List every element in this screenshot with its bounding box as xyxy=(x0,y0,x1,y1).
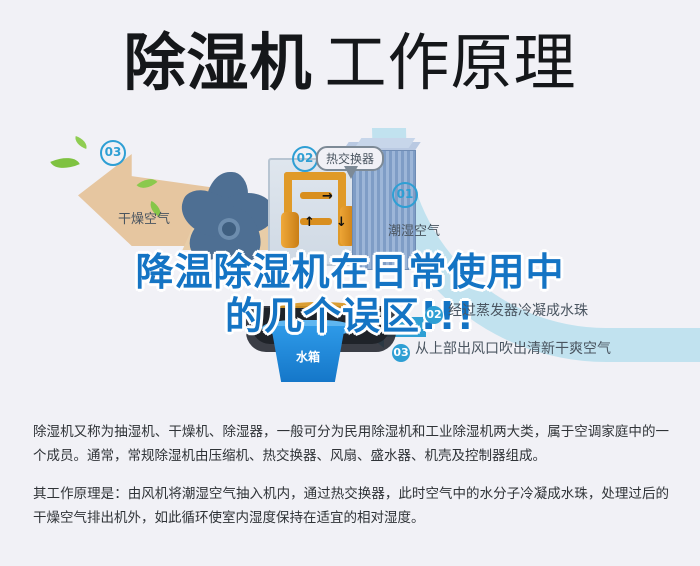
leaf-icon xyxy=(73,136,89,149)
caption-text-02: 经过蒸发器冷凝成水珠 xyxy=(448,303,588,319)
caption-badge-02: 02 xyxy=(425,306,443,324)
fan-icon xyxy=(172,160,276,260)
overlay-headline-line1: 降温除湿机在日常使用中 xyxy=(135,250,564,294)
caption-text-03: 从上部出风口吹出清新干爽空气 xyxy=(415,341,611,357)
body-text: 除湿机又称为抽湿机、干燥机、除湿器，一般可分为民用除湿机和工业除湿机两大类，属于… xyxy=(33,420,669,544)
badge-01-humid-air: 01 xyxy=(392,182,418,208)
flow-arrow-icon: ↑ xyxy=(304,216,315,229)
badge-03-dry-air: 03 xyxy=(100,140,126,166)
caption-step-02: 02经过蒸发器冷凝成水珠 xyxy=(425,300,588,324)
flow-arrow-icon: ↓ xyxy=(336,216,347,229)
compressor-cylinder xyxy=(281,212,299,248)
heat-exchanger-callout-pointer-icon xyxy=(344,166,358,179)
body-paragraph-2: 其工作原理是：由风机将潮湿空气抽入机内，通过热交换器，此时空气中的水分子冷凝成水… xyxy=(33,482,669,530)
caption-step-03: 03从上部出风口吹出清新干爽空气 xyxy=(392,338,611,362)
caption-badge-03: 03 xyxy=(392,344,410,362)
humid-air-label: 潮湿空气 xyxy=(388,220,440,239)
page-title-part2: 工作原理 xyxy=(325,26,577,99)
overlay-headline: 降温除湿机在日常使用中 的几个误区!!! xyxy=(0,250,700,338)
poster-root: 除湿机工作原理 → ↑ xyxy=(0,0,700,566)
water-tank-label: 水箱 xyxy=(266,348,350,365)
dry-air-label: 干燥空气 xyxy=(118,208,170,227)
badge-02-heat-exchanger: 02 xyxy=(292,146,318,172)
overlay-headline-line2: 的几个误区!!! xyxy=(0,294,700,338)
page-title: 除湿机工作原理 xyxy=(0,26,700,100)
page-title-part1: 除湿机 xyxy=(123,26,312,99)
leaf-icon xyxy=(50,151,79,174)
flow-arrow-icon: → xyxy=(322,190,333,203)
refrigerant-pipe xyxy=(284,172,346,180)
body-paragraph-1: 除湿机又称为抽湿机、干燥机、除湿器，一般可分为民用除湿机和工业除湿机两大类，属于… xyxy=(33,420,669,468)
